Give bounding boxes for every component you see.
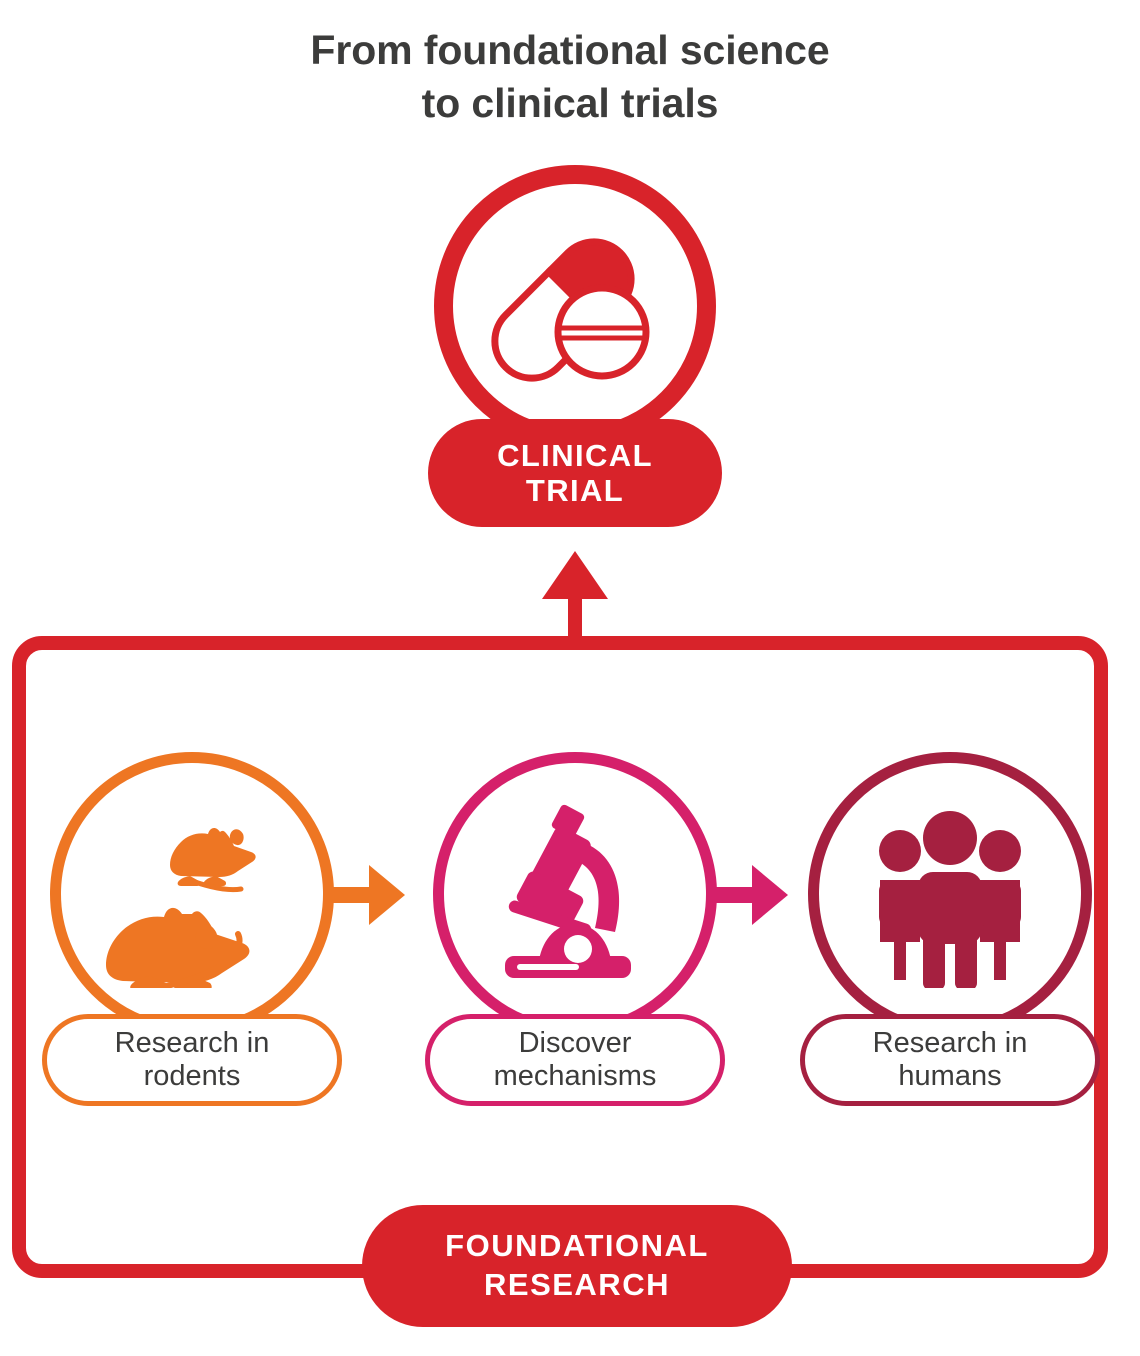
node-research-in-rodents[interactable]: Research in rodents xyxy=(42,752,342,1106)
rodents-label-line-2: rodents xyxy=(115,1060,270,1093)
pill-capsule-tablet-icon xyxy=(480,213,670,403)
rodents-label: Research in rodents xyxy=(42,1014,342,1106)
people-group-icon xyxy=(858,804,1042,988)
rodents-icon xyxy=(100,804,284,988)
infographic-canvas: From foundational science to clinical tr… xyxy=(0,0,1140,1356)
node-discover-mechanisms[interactable]: Discover mechanisms xyxy=(425,752,725,1106)
clinical-trial-label: CLINICAL TRIAL xyxy=(428,419,722,527)
rodents-label-line-1: Research in xyxy=(115,1027,270,1060)
node-research-in-humans[interactable]: Research in humans xyxy=(800,752,1100,1106)
node-clinical-trial[interactable]: CLINICAL TRIAL xyxy=(428,165,722,527)
page-title-line-1: From foundational science xyxy=(0,24,1140,77)
foundational-research-banner[interactable]: FOUNDATIONAL RESEARCH xyxy=(362,1205,792,1327)
arrow-right-icon xyxy=(716,862,790,928)
mechanisms-label-line-1: Discover xyxy=(494,1027,657,1060)
clinical-trial-label-line-2: TRIAL xyxy=(497,473,653,508)
arrow-right-icon xyxy=(333,862,407,928)
clinical-trial-label-line-1: CLINICAL xyxy=(497,438,653,473)
humans-label-line-2: humans xyxy=(873,1060,1028,1093)
page-title-line-2: to clinical trials xyxy=(0,77,1140,130)
mechanisms-label-line-2: mechanisms xyxy=(494,1060,657,1093)
arrow-up-icon xyxy=(540,549,610,644)
microscope-icon xyxy=(483,804,667,988)
foundational-banner-line-1: FOUNDATIONAL xyxy=(445,1227,709,1266)
foundational-banner-line-2: RESEARCH xyxy=(445,1266,709,1305)
mechanisms-label: Discover mechanisms xyxy=(425,1014,725,1106)
page-title: From foundational science to clinical tr… xyxy=(0,24,1140,131)
humans-label-line-1: Research in xyxy=(873,1027,1028,1060)
humans-label: Research in humans xyxy=(800,1014,1100,1106)
